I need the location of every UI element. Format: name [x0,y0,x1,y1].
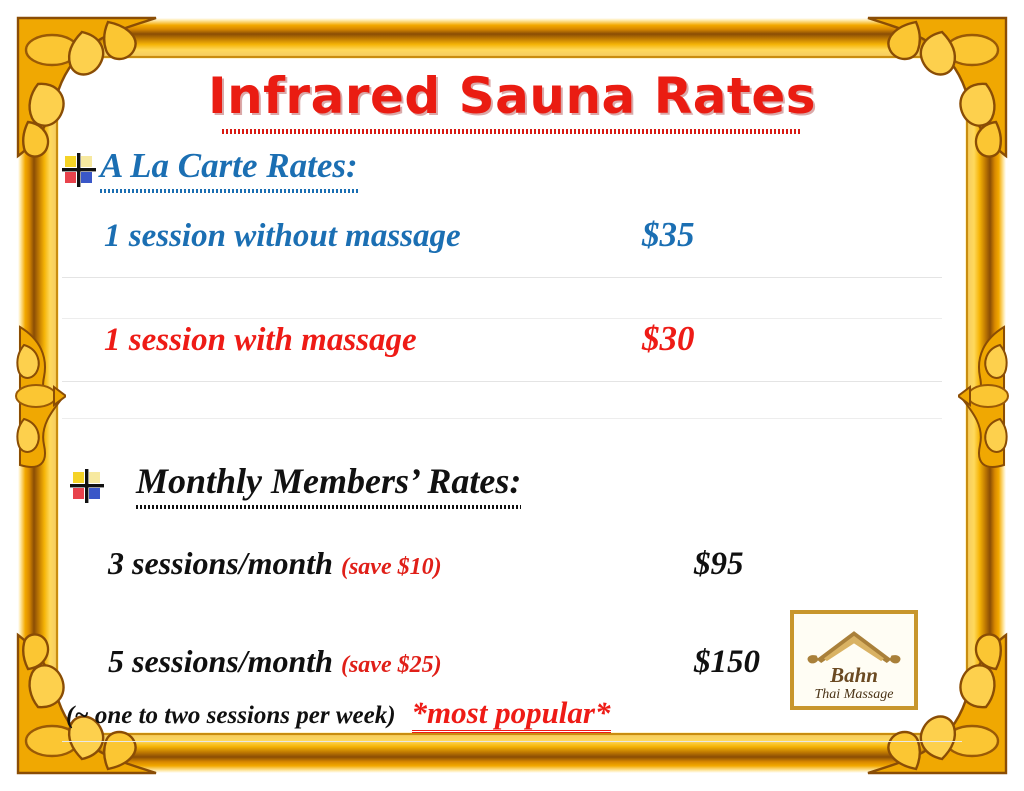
rate-savings-note: (save $10) [341,554,442,581]
frame-side-medallion-icon [958,321,1010,471]
rate-label: 1 session without massage [104,218,461,255]
rate-label: 1 session with massage [104,322,417,359]
table-row: 1 session with massage $30 [62,319,942,382]
thai-roof-icon [794,626,914,670]
section-title-underline [136,505,521,509]
title-underline-rule [222,129,802,134]
frame-band-right [966,18,1006,773]
page-title: Infrared Sauna Rates [62,70,962,127]
logo-tagline: Thai Massage [815,688,894,702]
rate-price: $30 [632,319,942,359]
section-header-a-la-carte: A La Carte Rates: [62,148,962,193]
frame-band-left [18,18,58,773]
table-row: 1 session without massage $35 [62,215,942,278]
frame-side-medallion-icon [14,321,66,471]
table-row: 3 sessions/month (save $10) $95 [62,545,962,583]
colored-cross-bullet-icon [62,153,96,187]
section-header-monthly-members: Monthly Members’ Rates: [62,463,962,509]
section-title-monthly-members: Monthly Members’ Rates: [136,463,521,502]
rate-savings-note: (save $25) [341,652,442,679]
a-la-carte-rate-table: 1 session without massage $35 1 session … [62,215,942,419]
status-badge: *most popular* [412,697,611,734]
bahn-thai-massage-logo: Bahn Thai Massage [790,610,918,710]
table-row-spacer [62,382,942,419]
section-title-underline [100,189,358,193]
table-row-spacer [62,278,942,319]
section-title-a-la-carte: A La Carte Rates: [100,148,358,186]
colored-cross-bullet-icon [70,469,104,503]
rate-label: 3 sessions/month [108,545,333,582]
infrared-sauna-rates-slide: Infrared Sauna Rates A La Carte Rates: 1… [0,0,1024,791]
footnote-text: (~ one to two sessions per week) [66,702,396,730]
rate-price: $95 [684,546,962,583]
rate-price: $35 [632,215,942,255]
rate-label: 5 sessions/month [108,643,333,680]
